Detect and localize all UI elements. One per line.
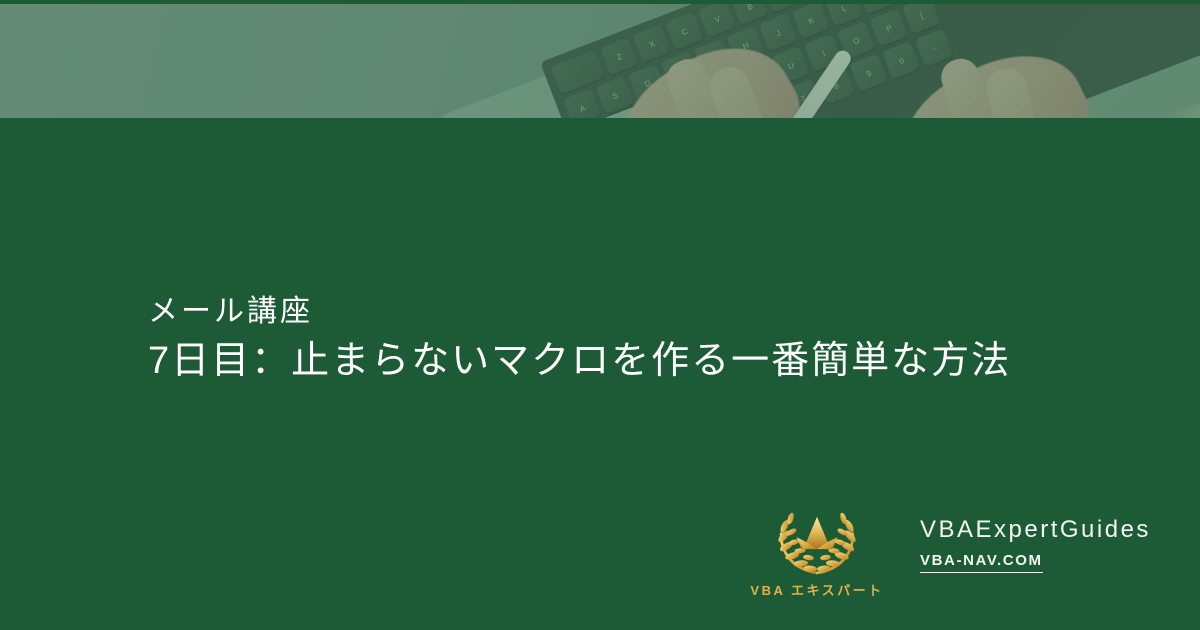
brand-text-block: VBAExpertGuides VBA-NAV.COM [920,498,1151,573]
laurel-wreath-crown-icon [774,498,860,578]
brand-emblem: VBA エキスパート [742,498,892,599]
title-block: メール講座 7日目：止まらないマクロを作る一番簡単な方法 [148,290,1011,388]
header-photo-band: ZXCVBNM,./ASDFGHJKL;'QWERTYUIOP[12345678… [0,0,1200,118]
og-banner-canvas: ZXCVBNM,./ASDFGHJKL;'QWERTYUIOP[12345678… [0,0,1200,630]
brand-url[interactable]: VBA-NAV.COM [920,552,1043,573]
brand-block: VBA エキスパート VBAExpertGuides VBA-NAV.COM [742,498,1151,599]
photo-green-wash-overlay [0,0,1200,118]
title-eyebrow: メール講座 [148,290,1011,334]
emblem-caption: VBA エキスパート [750,580,883,599]
top-accent-strip [0,0,1200,4]
brand-name: VBAExpertGuides [920,516,1151,544]
page-title: 7日目：止まらないマクロを作る一番簡単な方法 [148,334,1011,388]
